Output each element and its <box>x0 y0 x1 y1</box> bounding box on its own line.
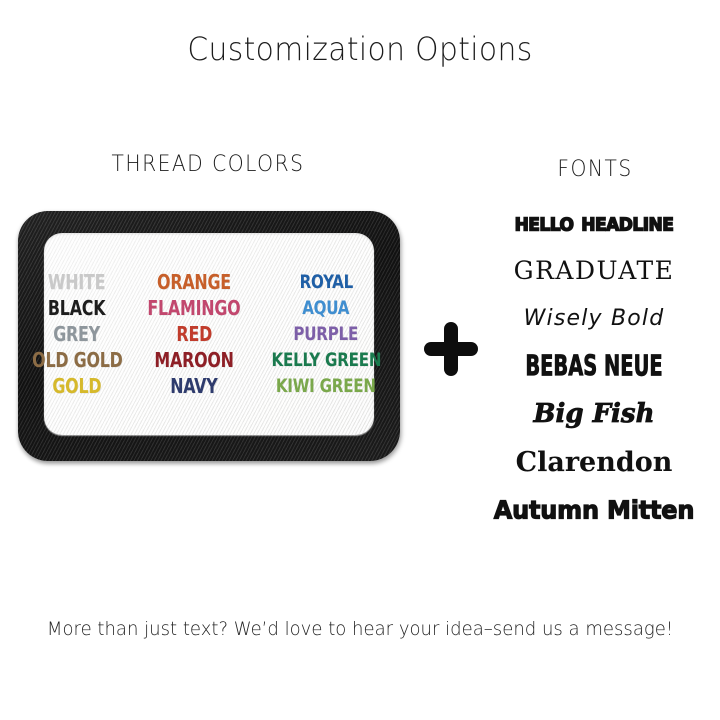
fonts-list: Hello Headline GRADUATE Wisely Bold BEBA… <box>468 198 720 534</box>
page-title: Customization Options <box>25 30 695 68</box>
color-option-aqua[interactable]: AQUA <box>302 295 349 321</box>
color-column-1: WHITE BLACK GREY OLD GOLD GOLD <box>21 269 133 399</box>
color-option-flamingo[interactable]: FLAMINGO <box>147 295 240 321</box>
font-option-autumn-mitten[interactable]: Autumn Mitten <box>468 485 720 535</box>
font-option-bebas-neue[interactable]: BEBAS NEUE <box>493 341 695 391</box>
color-option-red[interactable]: RED <box>176 321 212 347</box>
color-option-kelly-green[interactable]: KELLY GREEN <box>271 347 381 373</box>
color-option-orange[interactable]: ORANGE <box>157 269 231 295</box>
color-option-maroon[interactable]: MAROON <box>154 347 233 373</box>
color-option-grey[interactable]: GREY <box>54 321 101 347</box>
thread-colors-patch: WHITE BLACK GREY OLD GOLD GOLD ORANGE FL… <box>18 211 400 461</box>
plus-icon-vertical-bar <box>444 322 458 376</box>
color-column-3: ROYAL AQUA PURPLE KELLY GREEN KIWI GREEN <box>255 269 397 399</box>
font-option-clarendon[interactable]: Clarendon <box>468 438 720 486</box>
font-option-graduate[interactable]: GRADUATE <box>468 246 720 294</box>
color-option-navy[interactable]: NAVY <box>170 373 217 399</box>
font-option-hello-headline[interactable]: Hello Headline <box>468 197 720 248</box>
thread-colors-heading: THREAD COLORS <box>61 152 355 177</box>
font-option-wisely-bold[interactable]: Wisely Bold <box>468 294 720 342</box>
fonts-heading: FONTS <box>480 157 710 182</box>
color-option-gold[interactable]: GOLD <box>52 373 101 399</box>
color-option-royal[interactable]: ROYAL <box>299 269 352 295</box>
color-option-white[interactable]: WHITE <box>48 269 105 295</box>
color-option-purple[interactable]: PURPLE <box>294 321 359 347</box>
color-option-old-gold[interactable]: OLD GOLD <box>32 347 122 373</box>
font-option-big-fish[interactable]: Big Fish <box>468 390 720 438</box>
color-column-2: ORANGE FLAMINGO RED MAROON NAVY <box>133 269 255 399</box>
color-swatch-grid: WHITE BLACK GREY OLD GOLD GOLD ORANGE FL… <box>44 233 374 435</box>
footer-note: More than just text? We’d love to hear y… <box>18 618 702 640</box>
color-option-kiwi-green[interactable]: KIWI GREEN <box>276 373 376 399</box>
color-option-black[interactable]: BLACK <box>48 295 105 321</box>
